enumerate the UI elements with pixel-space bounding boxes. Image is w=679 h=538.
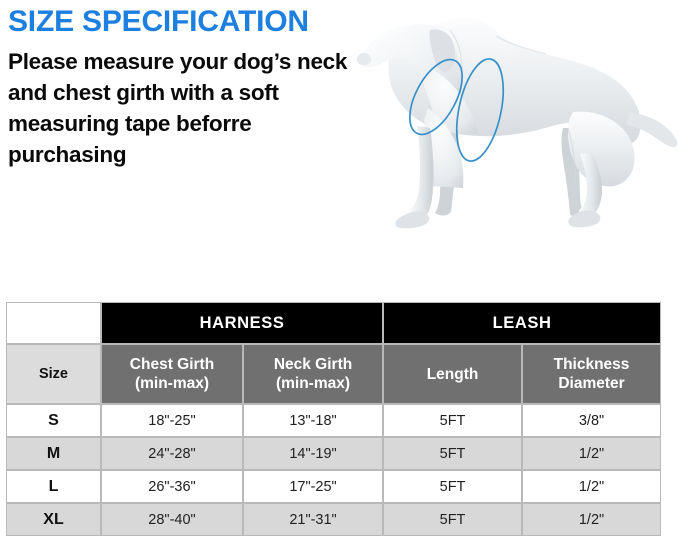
cell-thickness: 1/2" <box>522 503 661 536</box>
table-row: S 18"-25" 13"-18" 5FT 3/8" <box>6 404 661 437</box>
size-specification-table: HARNESS LEASH Size Chest Girth (min-max)… <box>6 302 661 536</box>
column-header-neck-girth: Neck Girth (min-max) <box>243 344 383 404</box>
cell-size: M <box>6 437 101 470</box>
column-header-thickness-line1: Thickness <box>554 356 630 373</box>
group-header-blank <box>6 302 101 344</box>
column-header-neck-line1: Neck Girth <box>274 356 352 373</box>
instructions-text: Please measure your dog’s neck and chest… <box>8 46 358 170</box>
table-row: XL 28"-40" 21"-31" 5FT 1/2" <box>6 503 661 536</box>
cell-neck-girth: 13"-18" <box>243 404 383 437</box>
cell-chest-girth: 28"-40" <box>101 503 243 536</box>
group-header-harness: HARNESS <box>101 302 383 344</box>
dog-body-shape <box>357 18 678 228</box>
cell-size: L <box>6 470 101 503</box>
cell-chest-girth: 18"-25" <box>101 404 243 437</box>
table-column-header-row: Size Chest Girth (min-max) Neck Girth (m… <box>6 344 661 404</box>
column-header-chest-girth: Chest Girth (min-max) <box>101 344 243 404</box>
column-header-length: Length <box>383 344 522 404</box>
cell-neck-girth: 14"-19" <box>243 437 383 470</box>
page-title: SIZE SPECIFICATION <box>8 4 358 40</box>
column-header-size: Size <box>6 344 101 404</box>
table-row: M 24"-28" 14"-19" 5FT 1/2" <box>6 437 661 470</box>
table-row: L 26"-36" 17"-25" 5FT 1/2" <box>6 470 661 503</box>
column-header-neck-line2: (min-max) <box>276 375 350 392</box>
cell-size: S <box>6 404 101 437</box>
group-header-leash: LEASH <box>383 302 661 344</box>
column-header-thickness: Thickness Diameter <box>522 344 661 404</box>
cell-thickness: 1/2" <box>522 470 661 503</box>
column-header-thickness-line2: Diameter <box>558 375 624 392</box>
cell-length: 5FT <box>383 437 522 470</box>
column-header-chest-line1: Chest Girth <box>130 356 214 373</box>
cell-thickness: 1/2" <box>522 437 661 470</box>
dog-measurement-diagram <box>330 0 679 240</box>
column-header-size-line1: Size <box>39 366 68 382</box>
cell-thickness: 3/8" <box>522 404 661 437</box>
column-header-length-line1: Length <box>427 366 479 383</box>
cell-neck-girth: 17"-25" <box>243 470 383 503</box>
cell-neck-girth: 21"-31" <box>243 503 383 536</box>
cell-length: 5FT <box>383 503 522 536</box>
intro-block: SIZE SPECIFICATION Please measure your d… <box>8 4 358 170</box>
column-header-chest-line2: (min-max) <box>135 375 209 392</box>
cell-length: 5FT <box>383 470 522 503</box>
cell-chest-girth: 26"-36" <box>101 470 243 503</box>
cell-chest-girth: 24"-28" <box>101 437 243 470</box>
cell-length: 5FT <box>383 404 522 437</box>
table-group-header-row: HARNESS LEASH <box>6 302 661 344</box>
cell-size: XL <box>6 503 101 536</box>
